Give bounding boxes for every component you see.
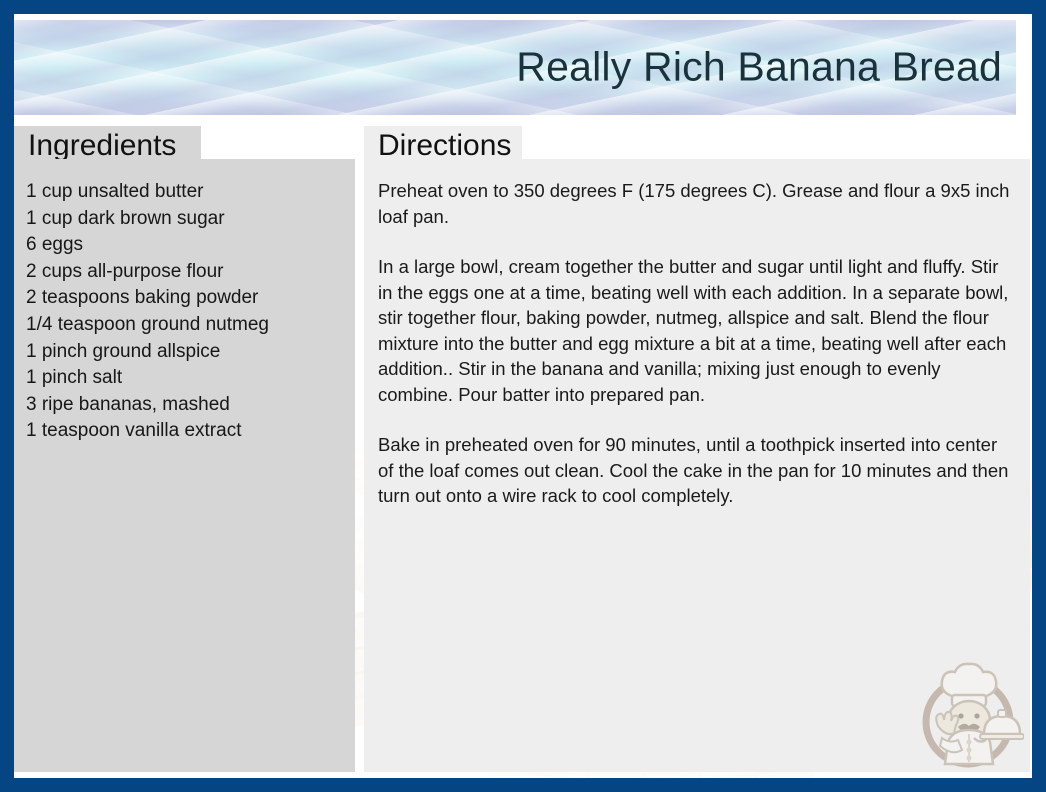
direction-step: In a large bowl, cream together the butt… — [378, 254, 1012, 407]
direction-step: Preheat oven to 350 degrees F (175 degre… — [378, 178, 1012, 229]
ingredients-list: 1 cup unsalted butter 1 cup dark brown s… — [26, 179, 347, 445]
list-item: 2 teaspoons baking powder — [26, 285, 347, 312]
page-title: Really Rich Banana Bread — [516, 43, 1002, 90]
list-item: 2 cups all-purpose flour — [26, 259, 347, 286]
list-item: 1/4 teaspoon ground nutmeg — [26, 312, 347, 339]
list-item: 3 ripe bananas, mashed — [26, 392, 347, 419]
directions-steps: Preheat oven to 350 degrees F (175 degre… — [378, 178, 1012, 509]
list-item: 1 pinch ground allspice — [26, 339, 347, 366]
recipe-card: Really Rich Banana Bread — [0, 0, 1046, 792]
list-item: 1 cup unsalted butter — [26, 179, 347, 206]
list-item: 6 eggs — [26, 232, 347, 259]
direction-step: Bake in preheated oven for 90 minutes, u… — [378, 432, 1012, 509]
ingredients-panel: Ingredients 1 cup unsalted butter 1 cup … — [14, 126, 355, 772]
list-item: 1 pinch salt — [26, 365, 347, 392]
list-item: 1 teaspoon vanilla extract — [26, 418, 347, 445]
directions-panel: Directions Preheat oven to 350 degrees F… — [364, 126, 1030, 772]
list-item: 1 cup dark brown sugar — [26, 206, 347, 233]
recipe-page: Really Rich Banana Bread — [14, 14, 1032, 778]
title-banner: Really Rich Banana Bread — [14, 20, 1016, 115]
